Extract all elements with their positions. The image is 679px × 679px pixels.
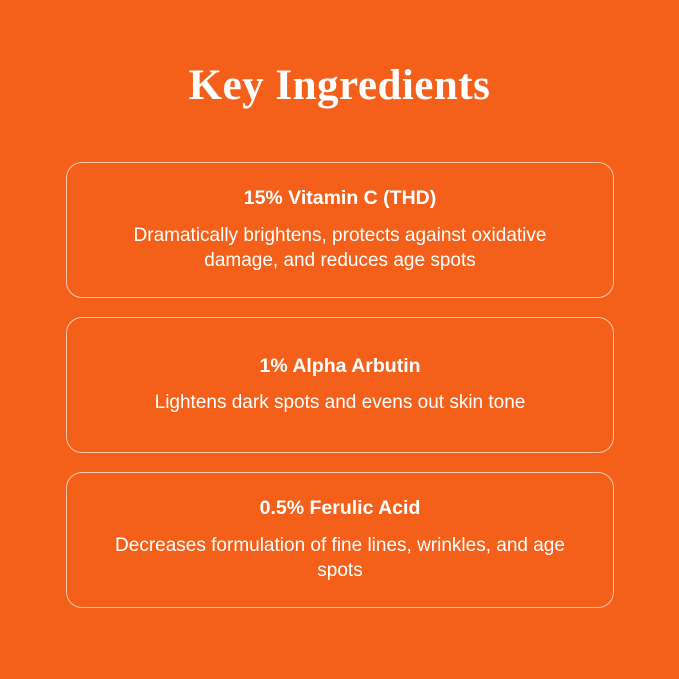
ingredient-description: Lightens dark spots and evens out skin t…	[155, 390, 526, 416]
ingredient-card-list: 15% Vitamin C (THD) Dramatically brighte…	[66, 162, 614, 608]
ingredient-card: 0.5% Ferulic Acid Decreases formulation …	[66, 472, 614, 608]
ingredient-heading: 1% Alpha Arbutin	[259, 354, 420, 379]
page-title: Key Ingredients	[0, 62, 679, 109]
key-ingredients-panel: Key Ingredients 15% Vitamin C (THD) Dram…	[0, 0, 679, 679]
ingredient-heading: 15% Vitamin C (THD)	[244, 186, 437, 211]
ingredient-description: Dramatically brightens, protects against…	[105, 223, 575, 274]
ingredient-description: Decreases formulation of fine lines, wri…	[105, 533, 575, 584]
ingredient-heading: 0.5% Ferulic Acid	[260, 496, 421, 521]
ingredient-card: 15% Vitamin C (THD) Dramatically brighte…	[66, 162, 614, 298]
ingredient-card: 1% Alpha Arbutin Lightens dark spots and…	[66, 317, 614, 453]
